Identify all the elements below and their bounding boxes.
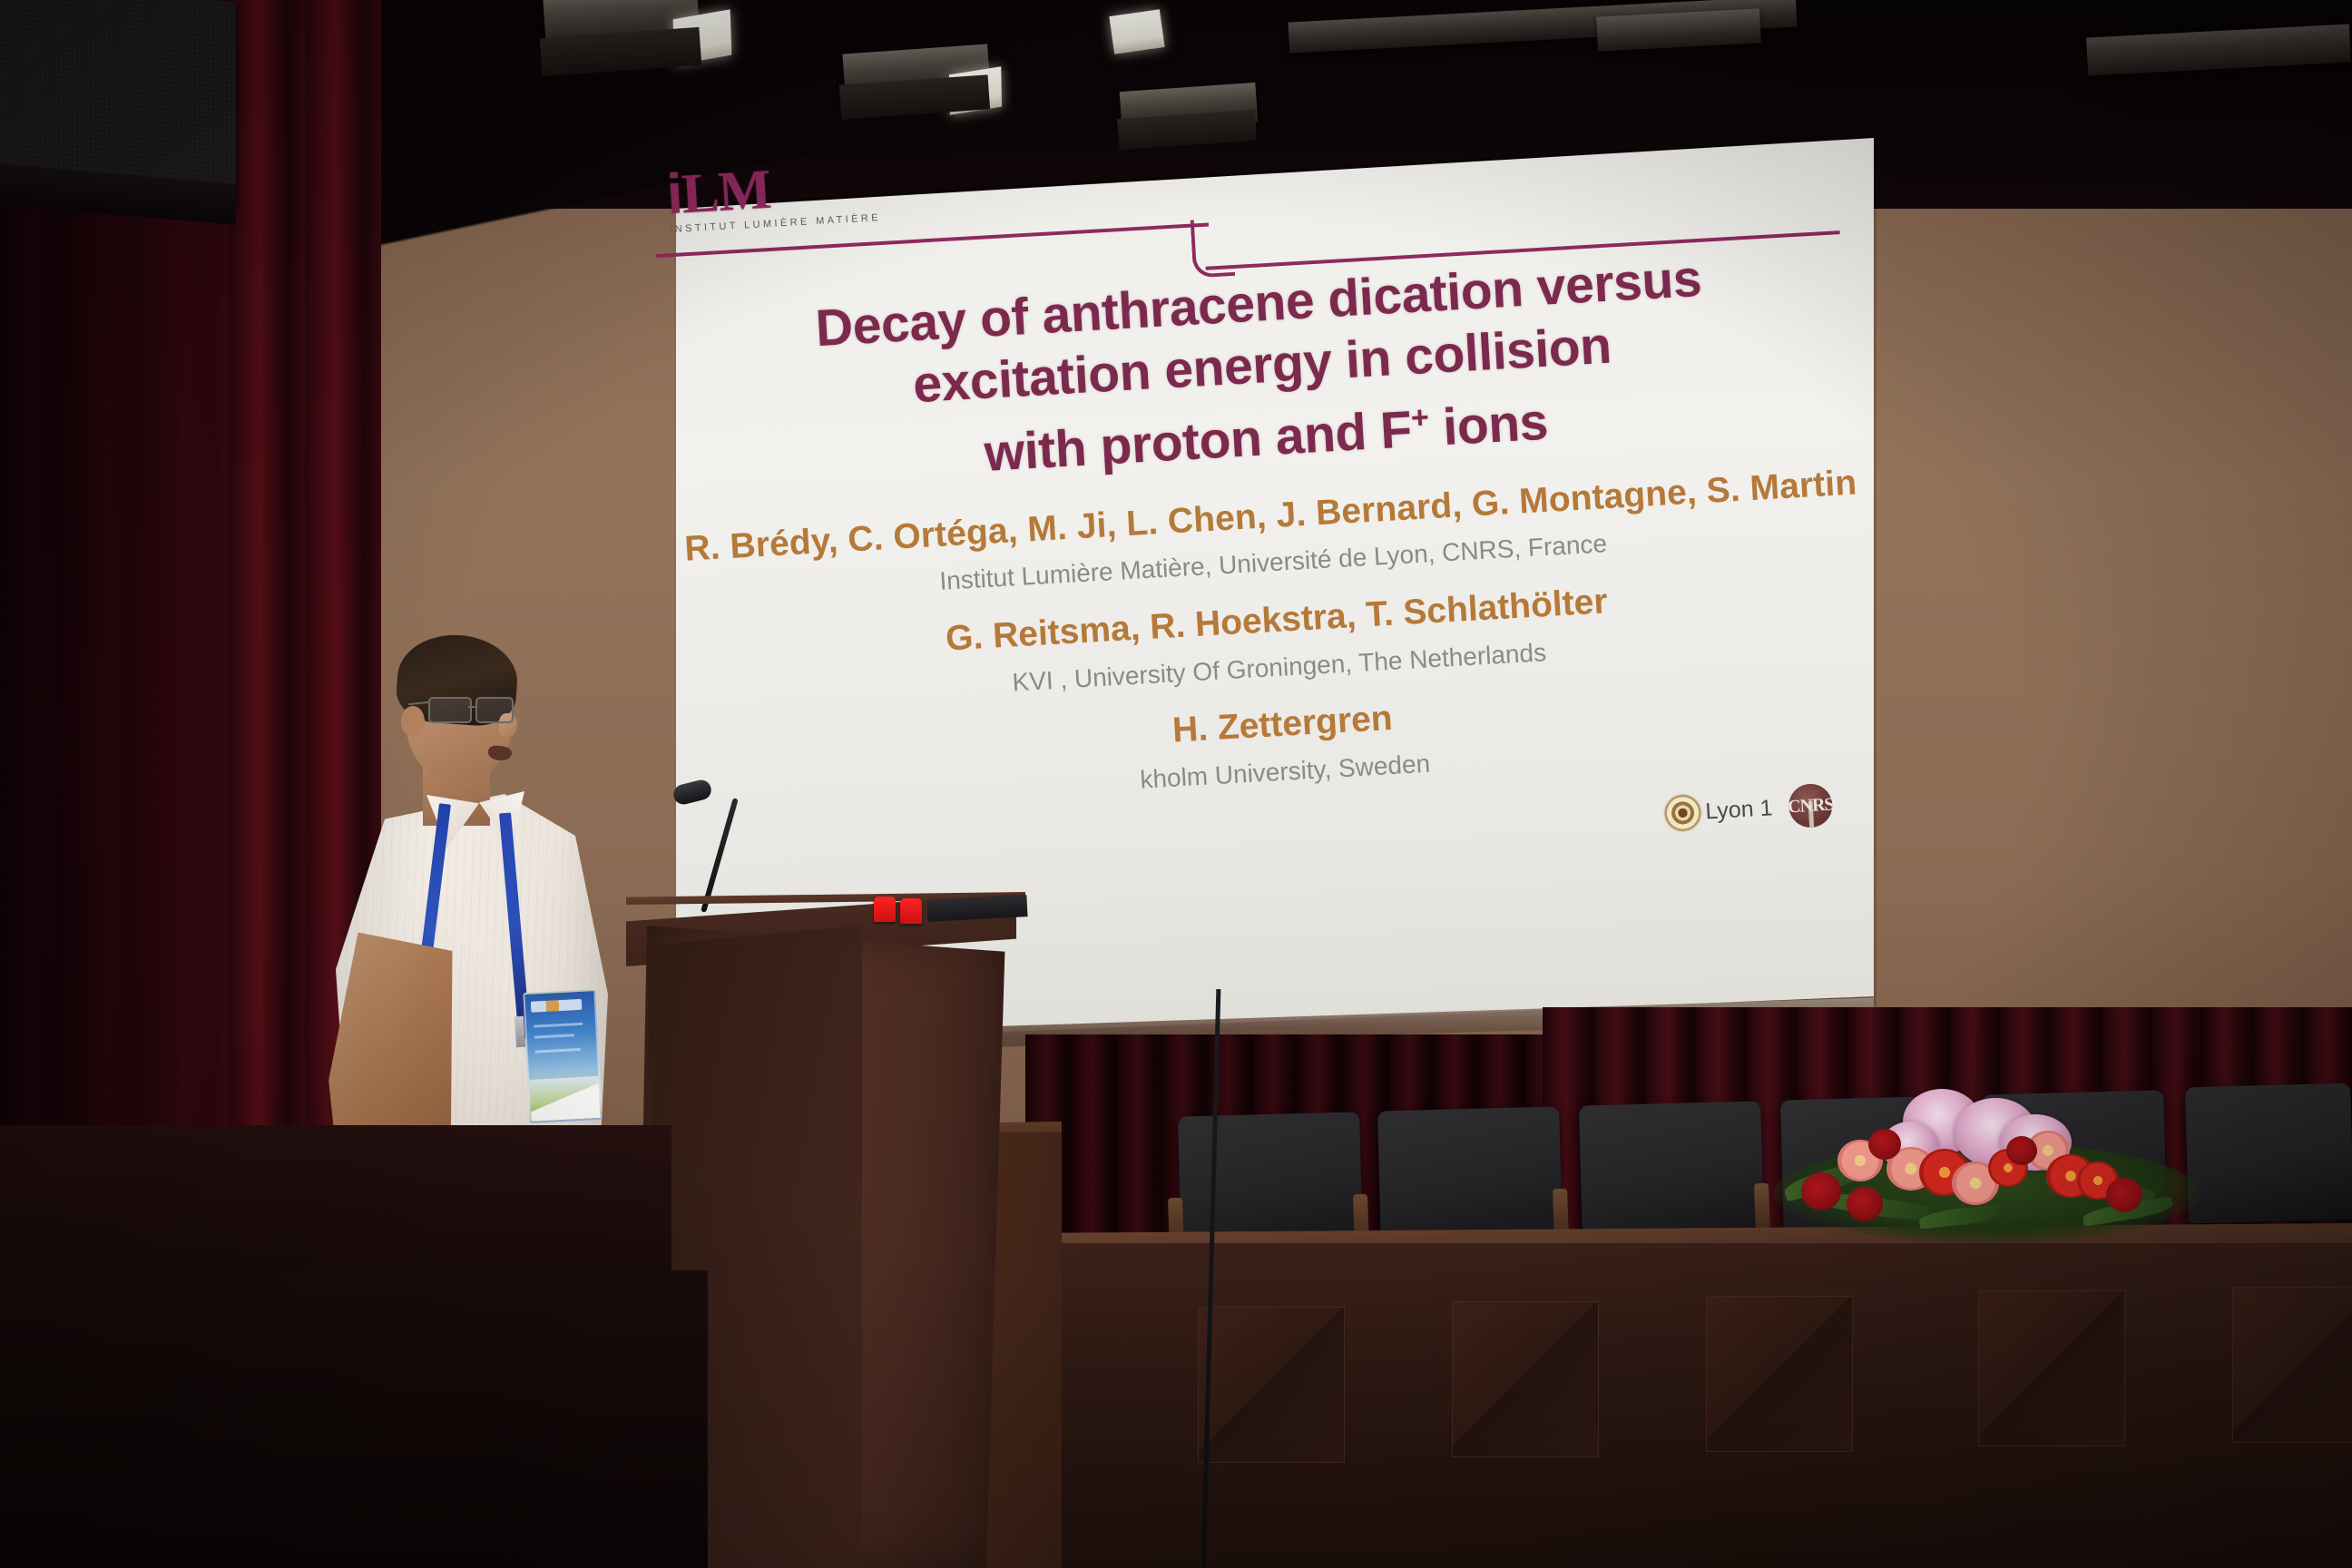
table-panel [1198, 1307, 1345, 1463]
eyeglass-bridge [468, 706, 477, 708]
flower-arrangement [1774, 1071, 2200, 1243]
cnrs-label: CNRS [1788, 794, 1834, 818]
conference-chair [2185, 1083, 2352, 1224]
slide-title: Decay of anthracene dication versus exci… [659, 239, 1866, 502]
eyeglasses-icon [428, 697, 515, 720]
cnrs-logo: CNRS [1788, 783, 1834, 829]
badge-text-line [534, 1034, 574, 1038]
rose-bloom [1847, 1187, 1883, 1221]
loudspeaker-grille [0, 0, 236, 193]
lyon1-label: Lyon 1 [1705, 795, 1774, 825]
lyon1-mark-icon [1663, 794, 1701, 832]
rose-bloom [1801, 1172, 1841, 1210]
stage-floor [0, 1270, 708, 1568]
presenter-ear [401, 706, 425, 737]
badge-text-line [535, 1048, 581, 1053]
table-panel [1452, 1301, 1599, 1457]
slide-title-tail: ions [1427, 393, 1549, 457]
rose-bloom [1868, 1129, 1901, 1160]
conference-badge [523, 989, 602, 1123]
ilm-wordmark: iLM [666, 159, 850, 221]
badge-header-band [531, 999, 583, 1013]
exit-panel-glow [1109, 9, 1164, 54]
red-marker-cap [900, 898, 922, 924]
red-marker-cap [874, 897, 896, 922]
badge-text-line [534, 1023, 583, 1028]
rose-bloom [2106, 1178, 2142, 1212]
auditorium-photo: iLM INSTITUT LUMIÈRE MATIÈRE Decay of an… [0, 0, 2352, 1568]
ilm-logo: iLM INSTITUT LUMIÈRE MATIÈRE [666, 159, 852, 252]
table-panel [2232, 1287, 2352, 1443]
conference-chair [1377, 1106, 1563, 1247]
rose-bloom [2006, 1136, 2037, 1165]
slide-title-line-3-text: with proton and F [983, 400, 1413, 483]
eyeglass-lens-right [475, 697, 514, 723]
slide-sponsor-logos: Lyon 1 CNRS [1663, 783, 1834, 836]
ilm-letters-lm: LM [680, 159, 772, 225]
eyeglass-lens-left [428, 697, 472, 723]
slide-title-superscript: + [1410, 400, 1430, 436]
table-panel [1978, 1290, 2125, 1446]
lyon1-logo: Lyon 1 [1663, 789, 1773, 832]
table-panel [1706, 1296, 1853, 1452]
badge-photo-graphic [529, 1076, 600, 1122]
conference-chair [1579, 1101, 1764, 1241]
